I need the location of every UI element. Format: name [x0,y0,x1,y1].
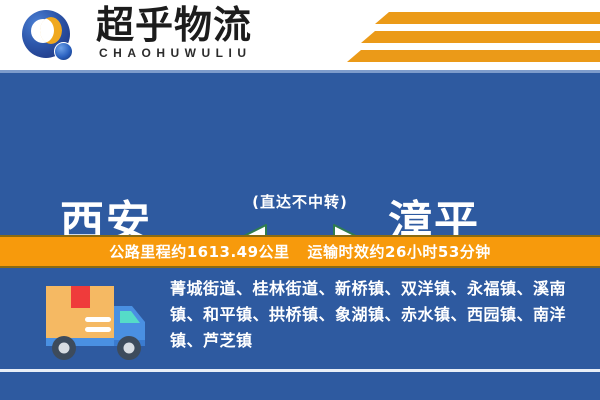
logo-crescent-shape [40,17,62,44]
brand-name-pinyin: CHAOHUWULIU [99,46,252,60]
duration-text: 运输时效约26小时53分钟 [308,241,491,262]
distance-text: 公路里程约1613.49公里 [109,241,289,262]
decorative-stripes [330,8,600,64]
coverage-section: 菁城街道、桂林街道、新桥镇、双洋镇、永福镇、溪南镇、和平镇、拱桥镇、象湖镇、赤水… [0,268,600,400]
stripe-2 [361,31,600,43]
route-section: 西安 (直达不中转) 【往返运输】 漳平 [0,73,600,233]
direct-shipping-note: (直达不中转) [0,191,600,212]
banner-header: 超乎物流 CHAOHUWULIU [0,0,600,70]
brand-name-chinese: 超乎物流 [96,4,252,46]
stripe-3 [347,50,600,62]
logistics-route-banner: 超乎物流 CHAOHUWULIU 西安 (直达不中转) 【往返运输】 漳平 公路… [0,0,600,400]
logo-accent-dot-shape [54,42,73,61]
stripe-1 [375,12,600,24]
route-info-bar: 公路里程约1613.49公里 运输时效约26小时53分钟 [0,235,600,268]
delivery-truck-icon [28,280,158,366]
coverage-areas-text: 菁城街道、桂林街道、新桥镇、双洋镇、永福镇、溪南镇、和平镇、拱桥镇、象湖镇、赤水… [170,276,590,354]
company-logo-icon [22,10,76,64]
road-line [0,369,600,372]
